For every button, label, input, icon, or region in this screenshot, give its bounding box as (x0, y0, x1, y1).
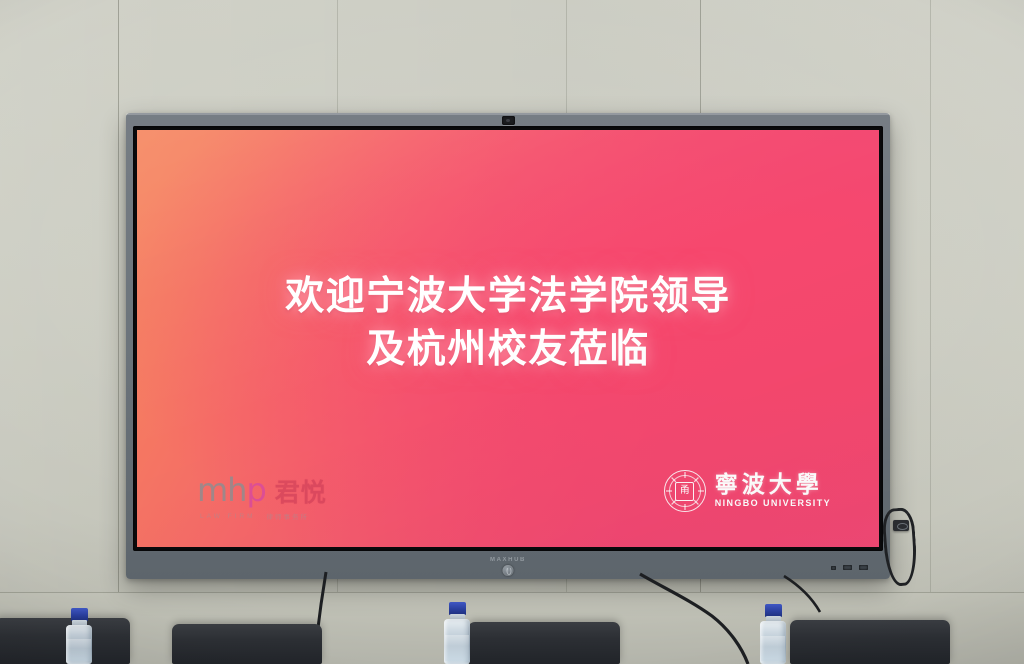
mhp-wordmark-p: p (246, 471, 265, 509)
university-name-en: NINGBO UNIVERSITY (715, 499, 831, 508)
room-photo-scene: 欢迎宁波大学法学院领导 及杭州校友莅临 mhp 君悦 LAW FIRM 律师事务… (0, 0, 1024, 664)
power-button[interactable] (503, 565, 514, 576)
water-bottle (66, 608, 92, 664)
port-usb-3[interactable] (859, 565, 868, 570)
bottle-body (66, 625, 92, 664)
camera-lens-dot (506, 119, 510, 122)
mhp-logo-row: mhp 君悦 (197, 474, 327, 506)
bezel-highlight (126, 113, 890, 115)
display-brandmark: MAXHUB (490, 557, 526, 563)
power-icon (507, 567, 512, 575)
bottle-label (761, 636, 785, 661)
chair-center-left (172, 624, 322, 664)
port-usb-1[interactable] (831, 566, 836, 570)
chair-right (790, 620, 950, 664)
cable-clip (893, 520, 909, 531)
chair-center-right (468, 622, 620, 664)
university-seal-icon: 甬 (664, 470, 706, 512)
camera-icon (502, 116, 515, 125)
interactive-flat-panel-display[interactable]: 欢迎宁波大学法学院领导 及杭州校友莅临 mhp 君悦 LAW FIRM 律师事务… (126, 113, 890, 579)
mhp-wordmark-mh: mh (197, 471, 246, 509)
mhp-subtitle-row: LAW FIRM 律师事务所 (200, 511, 309, 521)
display-screen[interactable]: 欢迎宁波大学法学院领导 及杭州校友莅临 mhp 君悦 LAW FIRM 律师事务… (137, 130, 879, 547)
bottle-label (67, 639, 91, 661)
university-name-cn: 寧波大學 (715, 474, 831, 497)
bottle-body (444, 619, 470, 664)
water-bottle (444, 602, 470, 664)
mhp-wordmark: mhp (197, 474, 266, 506)
slide-title: 欢迎宁波大学法学院领导 及杭州校友莅临 (137, 270, 879, 376)
chair-left (0, 618, 130, 664)
university-name-block: 寧波大學 NINGBO UNIVERSITY (715, 474, 831, 508)
display-ports-group[interactable] (831, 565, 868, 570)
bottle-body (760, 621, 786, 664)
ningbo-university-logo: 甬 寧波大學 NINGBO UNIVERSITY (664, 470, 831, 512)
mhp-subtitle-en: LAW FIRM (200, 513, 256, 520)
seal-center-glyph: 甬 (675, 482, 694, 501)
mhp-chinese-name: 君悦 (275, 480, 327, 505)
mhp-subtitle-cn: 律师事务所 (267, 511, 310, 521)
mhp-law-firm-logo: mhp 君悦 LAW FIRM 律师事务所 (197, 474, 327, 521)
water-bottle (760, 604, 786, 664)
bottle-label (445, 635, 469, 661)
screen-inner-frame: 欢迎宁波大学法学院领导 及杭州校友莅临 mhp 君悦 LAW FIRM 律师事务… (133, 126, 883, 551)
port-usb-2[interactable] (843, 565, 852, 570)
